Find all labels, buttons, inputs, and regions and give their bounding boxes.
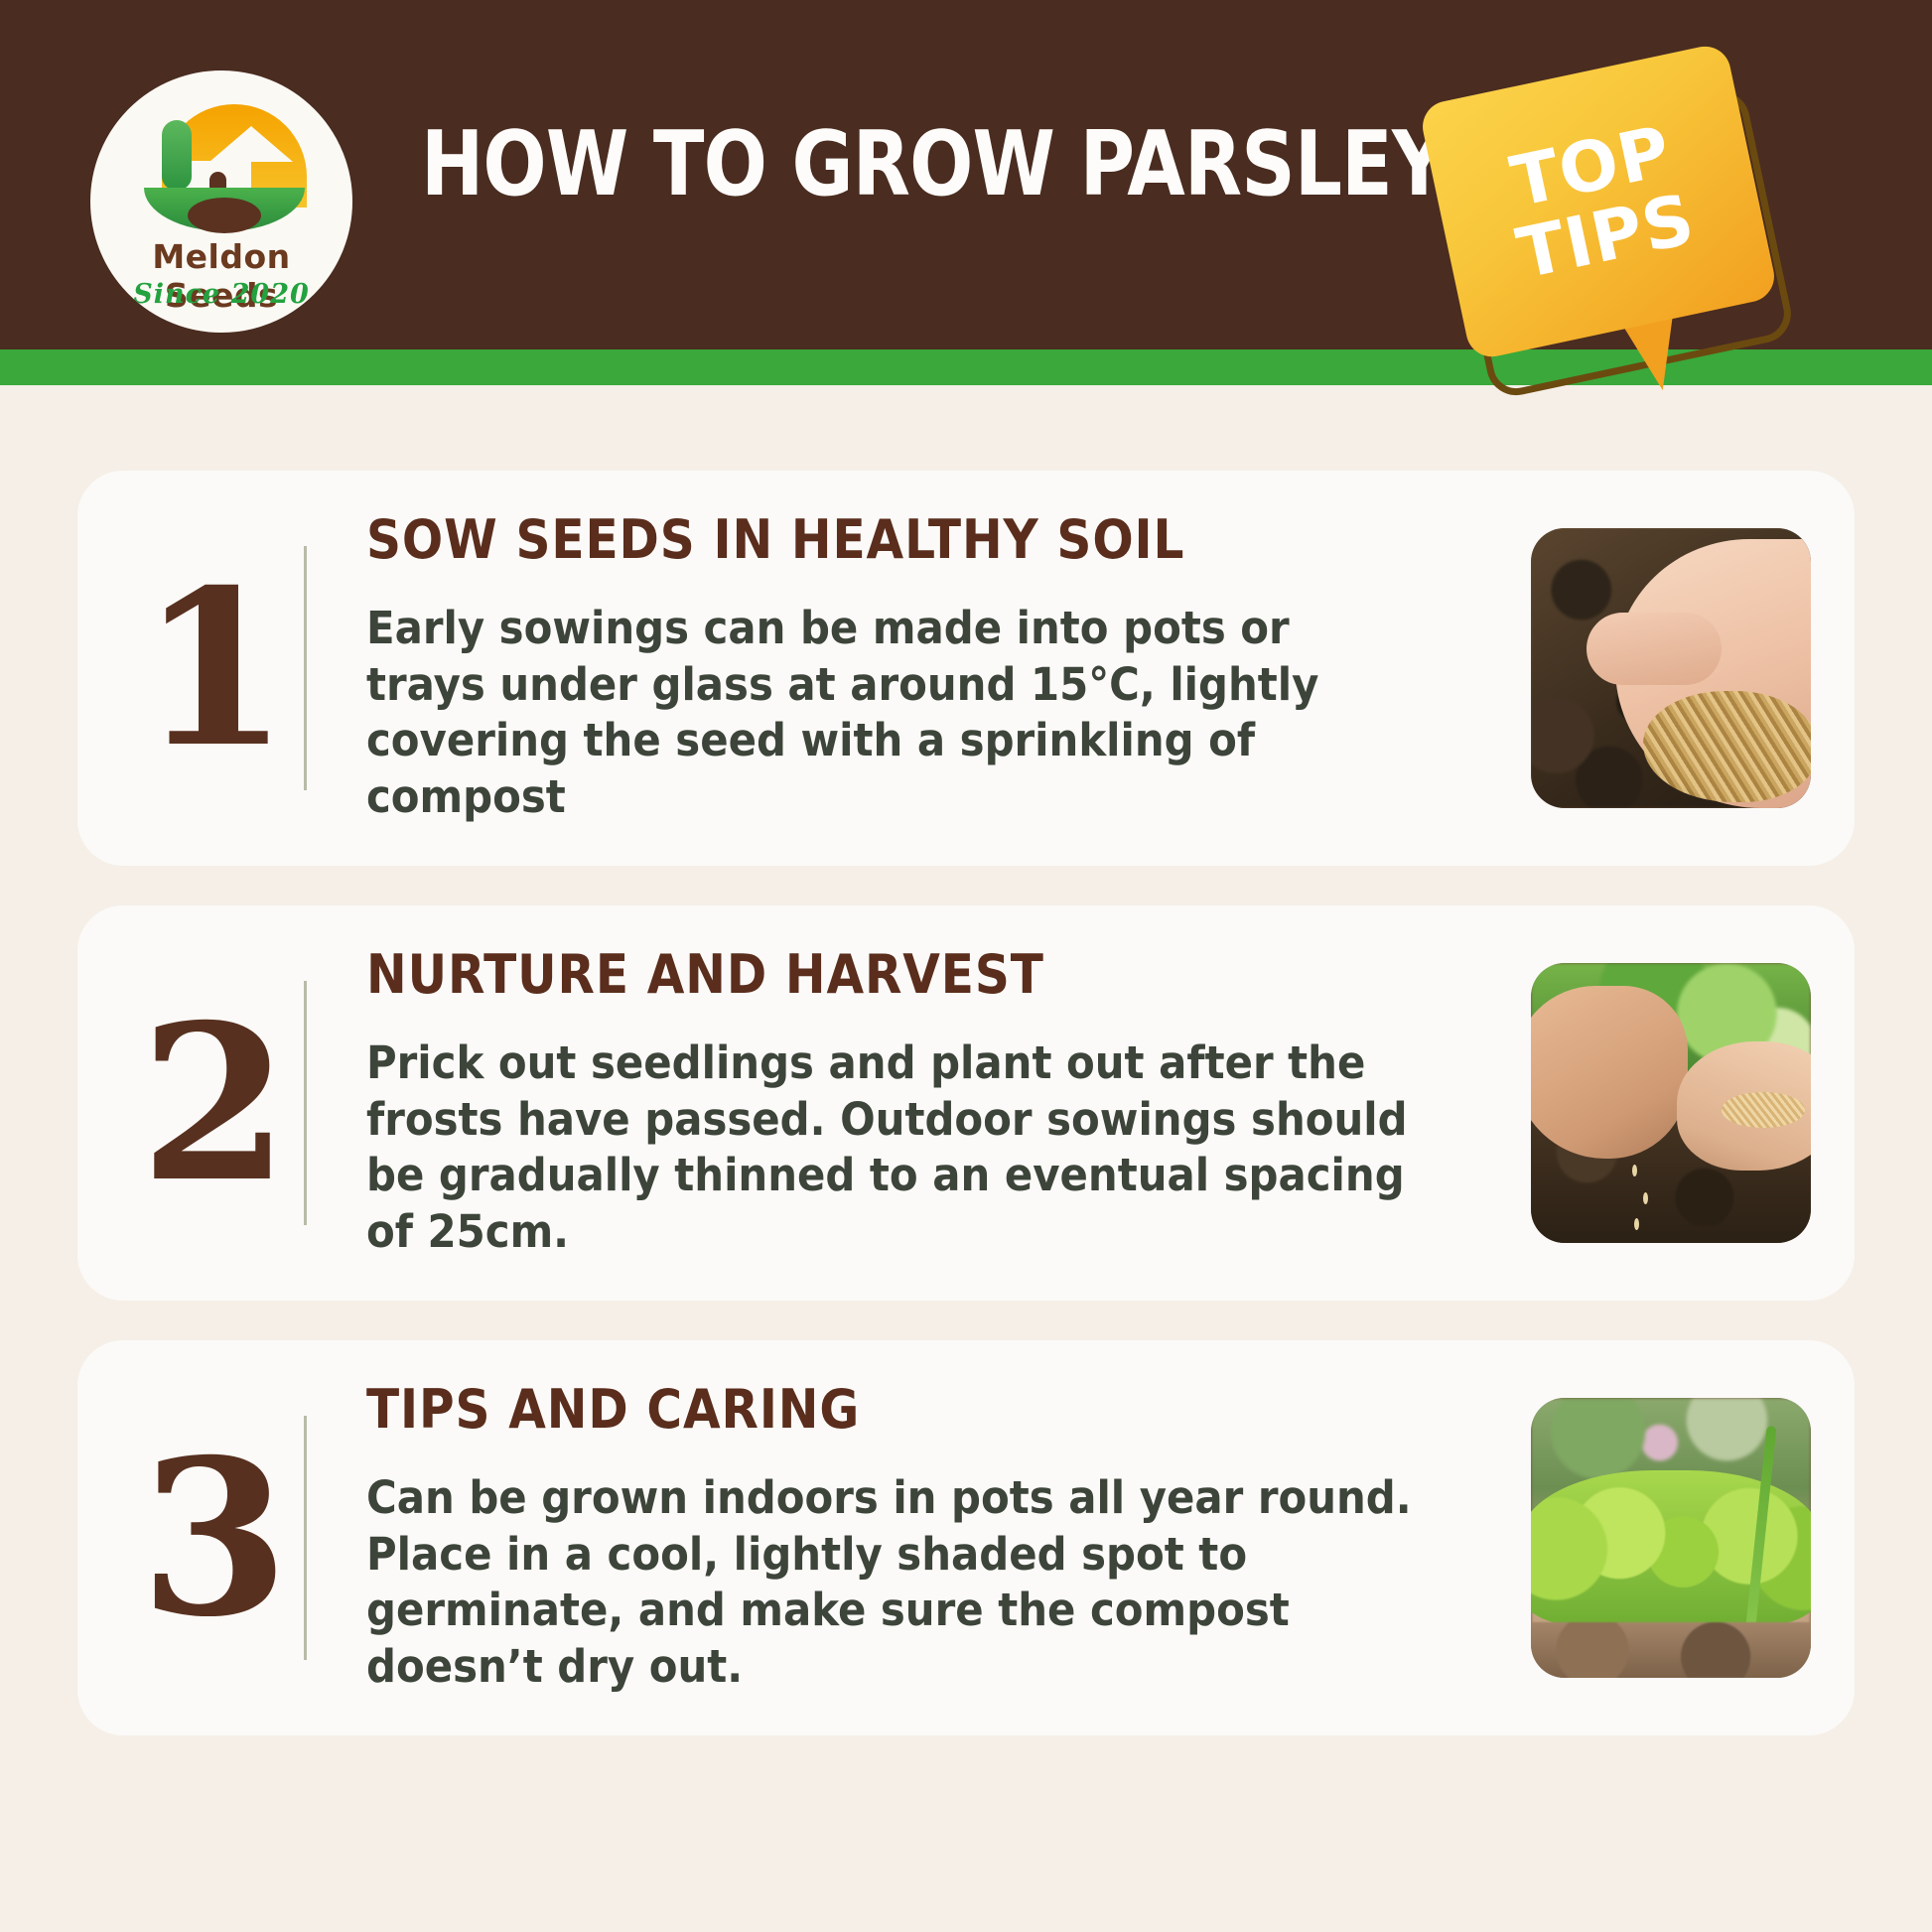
page-title: HOW TO GROW PARSLEY xyxy=(421,121,1172,208)
step-content-3: TIPS AND CARING Can be grown indoors in … xyxy=(307,1380,1531,1695)
step-text-1: Early sowings can be made into pots or t… xyxy=(366,601,1418,826)
falling-seed xyxy=(1632,1165,1637,1176)
step-card-2: 2 NURTURE AND HARVEST Prick out seedling… xyxy=(77,905,1855,1301)
soil-texture xyxy=(1531,1622,1811,1678)
step-text-3: Can be grown indoors in pots all year ro… xyxy=(366,1470,1418,1696)
top-tips-badge: TOP TIPS xyxy=(1442,71,1819,389)
logo-tagline: Since 2020 xyxy=(90,279,352,310)
step-content-2: NURTURE AND HARVEST Prick out seedlings … xyxy=(307,945,1531,1260)
left-hand-shape xyxy=(1531,986,1688,1160)
step-number-1: 1 xyxy=(125,561,304,775)
step-title-2: NURTURE AND HARVEST xyxy=(366,945,1384,1005)
step-title-1: SOW SEEDS IN HEALTHY SOIL xyxy=(366,510,1384,570)
step-card-3: 3 TIPS AND CARING Can be grown indoors i… xyxy=(77,1340,1855,1735)
step-photo-2 xyxy=(1531,963,1811,1243)
brand-logo: Meldon Seeds Since 2020 xyxy=(85,66,357,338)
step-title-3: TIPS AND CARING xyxy=(366,1380,1384,1440)
finger-shape xyxy=(1587,613,1721,685)
steps-list: 1 SOW SEEDS IN HEALTHY SOIL Early sowing… xyxy=(0,385,1932,1735)
step-photo-3 xyxy=(1531,1398,1811,1678)
step-number-2: 2 xyxy=(125,996,304,1210)
logo-artwork xyxy=(136,104,307,225)
tree-icon xyxy=(162,120,192,190)
step-content-1: SOW SEEDS IN HEALTHY SOIL Early sowings … xyxy=(307,510,1531,825)
step-text-2: Prick out seedlings and plant out after … xyxy=(366,1035,1418,1261)
step-card-1: 1 SOW SEEDS IN HEALTHY SOIL Early sowing… xyxy=(77,471,1855,866)
infographic-page: Meldon Seeds Since 2020 HOW TO GROW PARS… xyxy=(0,0,1932,1932)
seed-icon xyxy=(188,198,261,233)
step-photo-1 xyxy=(1531,528,1811,808)
step-number-3: 3 xyxy=(125,1431,304,1645)
house-roof-icon xyxy=(209,126,293,162)
falling-seed xyxy=(1643,1192,1648,1204)
